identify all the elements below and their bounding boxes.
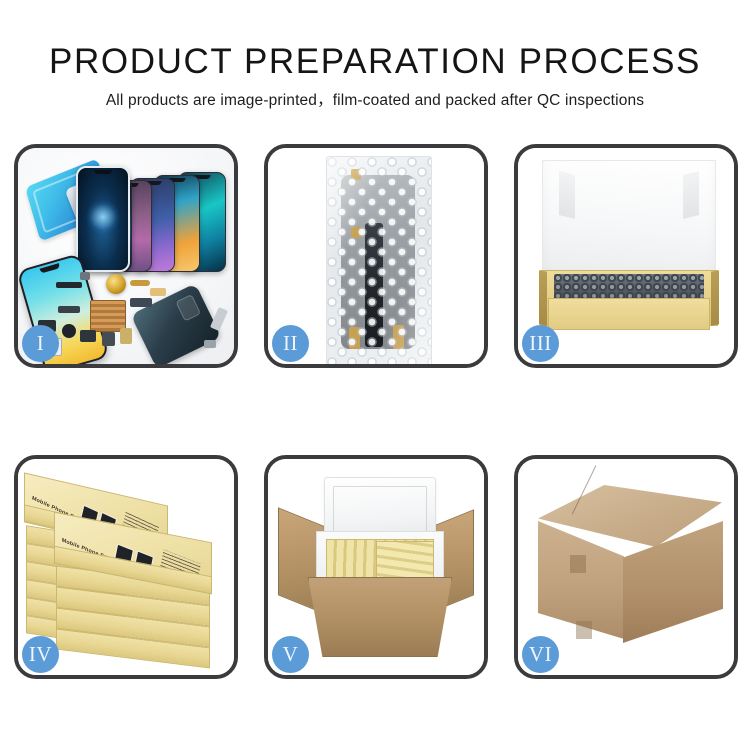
box-lid-icon bbox=[542, 160, 716, 282]
process-step-panel-4[interactable]: Mobile Phone Spare Parts Mobile Phone Sp… bbox=[14, 455, 238, 679]
page-title: PRODUCT PREPARATION PROCESS bbox=[0, 42, 750, 82]
step-badge-5: V bbox=[272, 636, 309, 673]
part-ribbon-cable-icon bbox=[130, 298, 152, 307]
part-button-icon bbox=[102, 332, 115, 346]
part-speaker-icon bbox=[62, 324, 76, 338]
notch-icon bbox=[40, 263, 61, 273]
lid-flap-right-icon bbox=[683, 171, 699, 219]
yellow-box-front-icon bbox=[548, 298, 710, 330]
plastic-sheen bbox=[327, 157, 431, 364]
process-step-grid: I II III bbox=[14, 144, 738, 679]
part-sim-tray-icon bbox=[120, 328, 132, 344]
step-badge-2: II bbox=[272, 325, 309, 362]
page-subtitle: All products are image-printed，film-coat… bbox=[0, 90, 750, 112]
part-connector-icon bbox=[58, 306, 80, 313]
part-earpiece-icon bbox=[80, 272, 90, 280]
wireless-charging-coil-icon bbox=[106, 274, 126, 294]
phone-back-housing-icon bbox=[130, 283, 221, 364]
tempered-glass-screen-icon bbox=[76, 166, 130, 272]
step-badge-1: I bbox=[22, 325, 59, 362]
step-badge-6: VI bbox=[522, 636, 559, 673]
process-step-panel-5[interactable]: V bbox=[264, 455, 488, 679]
yellow-boxes-inside-icon bbox=[376, 541, 434, 583]
process-step-panel-2[interactable]: II bbox=[264, 144, 488, 368]
process-step-panel-6[interactable]: VI bbox=[514, 455, 738, 679]
repair-tweezers-icon bbox=[210, 307, 228, 331]
process-step-panel-1[interactable]: I bbox=[14, 144, 238, 368]
page-header: PRODUCT PREPARATION PROCESS All products… bbox=[0, 0, 750, 112]
box-stack-group: Mobile Phone Spare Parts Mobile Phone Sp… bbox=[20, 477, 234, 667]
part-gold-bracket-icon bbox=[150, 288, 166, 296]
part-screw-set-icon bbox=[204, 340, 216, 348]
step-badge-4: IV bbox=[22, 636, 59, 673]
process-step-panel-3[interactable]: III bbox=[514, 144, 738, 368]
lid-flap-left-icon bbox=[559, 171, 575, 219]
bubble-wrap-bag-icon bbox=[326, 156, 432, 364]
notch-icon bbox=[94, 170, 112, 174]
carton-body-icon bbox=[308, 577, 452, 657]
step-badge-3: III bbox=[522, 325, 559, 362]
carton-tape-patch bbox=[576, 621, 592, 639]
part-flex-strip-icon bbox=[56, 282, 82, 288]
carton-tape-patch bbox=[570, 555, 586, 573]
part-camera-icon bbox=[80, 330, 96, 342]
part-gold-flex-icon bbox=[130, 280, 150, 286]
